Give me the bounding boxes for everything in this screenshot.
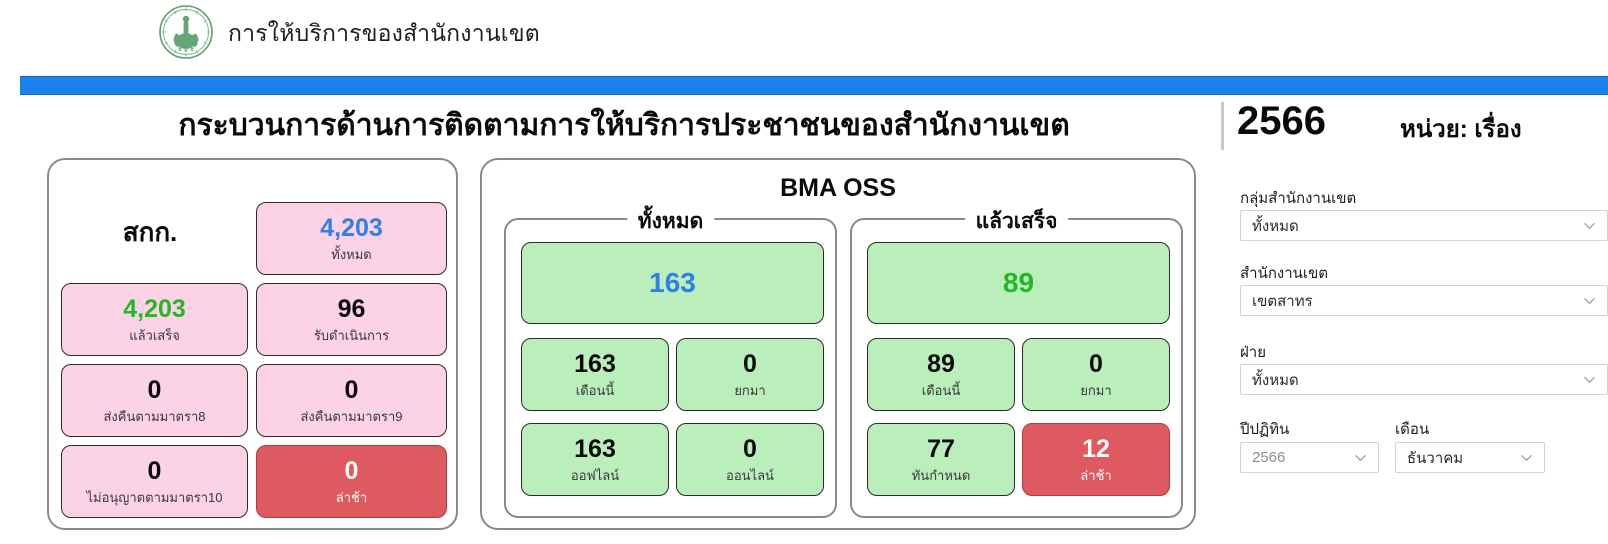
chevron-down-icon — [1582, 293, 1597, 308]
kpi-card-skk-returned-sec9[interactable]: 0 ส่งคืนตามมาตรา9 — [256, 364, 447, 437]
accent-bar — [20, 76, 1608, 95]
kpi-card-skk-returned-sec8[interactable]: 0 ส่งคืนตามมาตรา8 — [61, 364, 248, 437]
kpi-card-oss-all-online[interactable]: 0 ออนไลน์ — [676, 423, 824, 496]
app-header: การให้บริการของสำนักงานเขต — [0, 0, 1608, 72]
kpi-label: เดือนนี้ — [922, 384, 960, 397]
filter-label-calendar-year: ปีปฏิทิน — [1240, 417, 1289, 441]
oss-group-all: ทั้งหมด 163 163 เดือนนี้ 0 ยกมา 163 ออฟไ… — [504, 218, 837, 518]
filter-select-month[interactable]: ธันวาคม — [1395, 442, 1545, 473]
kpi-card-oss-completed-on-time[interactable]: 77 ทันกำหนด — [867, 423, 1015, 496]
filter-select-district-office[interactable]: เขตสาทร — [1240, 285, 1608, 316]
kpi-card-oss-completed-total[interactable]: 89 — [867, 242, 1170, 324]
kpi-card-oss-all-offline[interactable]: 163 ออฟไลน์ — [521, 423, 669, 496]
kpi-value: 0 — [345, 378, 359, 403]
skk-panel: สกก. 4,203 ทั้งหมด 4,203 แล้วเสร็จ 96 รั… — [47, 158, 458, 530]
kpi-label: ล่าช้า — [336, 491, 367, 504]
bma-oss-heading: BMA OSS — [482, 174, 1194, 203]
chevron-down-icon — [1519, 450, 1534, 465]
kpi-value: 0 — [148, 459, 162, 484]
kpi-label: แล้วเสร็จ — [129, 329, 180, 342]
bma-oss-panel: BMA OSS ทั้งหมด 163 163 เดือนนี้ 0 ยกมา … — [480, 158, 1196, 530]
filter-select-calendar-year[interactable]: 2566 — [1240, 442, 1379, 473]
title-row: กระบวนการด้านการติดตามการให้บริการประชาช… — [0, 100, 1608, 155]
chevron-down-icon — [1582, 218, 1597, 233]
filter-value: ทั้งหมด — [1252, 368, 1582, 392]
kpi-value: 77 — [927, 437, 955, 462]
kpi-value: 163 — [574, 352, 616, 377]
filter-select-department[interactable]: ทั้งหมด — [1240, 364, 1608, 395]
kpi-value: 0 — [743, 352, 757, 377]
kpi-card-oss-all-carried-over[interactable]: 0 ยกมา — [676, 338, 824, 411]
filter-value: ธันวาคม — [1407, 446, 1519, 470]
filter-label-district-group: กลุ่มสำนักงานเขต — [1240, 186, 1356, 210]
kpi-value: 89 — [1003, 267, 1034, 299]
kpi-card-oss-completed-late[interactable]: 12 ล่าช้า — [1022, 423, 1170, 496]
dashboard-page: การให้บริการของสำนักงานเขต กระบวนการด้าน… — [0, 0, 1608, 544]
kpi-label: ไม่อนุญาตตามมาตรา10 — [87, 491, 223, 504]
kpi-label: ออฟไลน์ — [571, 469, 619, 482]
kpi-card-skk-done[interactable]: 4,203 แล้วเสร็จ — [61, 283, 248, 356]
kpi-value: 12 — [1082, 437, 1110, 462]
kpi-label: ยกมา — [734, 384, 765, 397]
title-divider — [1221, 102, 1224, 150]
oss-group-all-legend: ทั้งหมด — [627, 205, 714, 238]
kpi-value: 0 — [743, 437, 757, 462]
kpi-label: เดือนนี้ — [576, 384, 614, 397]
oss-group-completed-legend: แล้วเสร็จ — [965, 205, 1069, 238]
kpi-value: 163 — [574, 437, 616, 462]
chevron-down-icon — [1582, 372, 1597, 387]
skk-heading: สกก. — [59, 212, 241, 253]
filter-label-month: เดือน — [1395, 417, 1429, 441]
kpi-label: ทันกำหนด — [912, 469, 971, 482]
kpi-value: 4,203 — [320, 216, 383, 241]
kpi-value: 163 — [649, 267, 696, 299]
kpi-label: ส่งคืนตามมาตรา9 — [300, 410, 402, 423]
filter-value: ทั้งหมด — [1252, 214, 1582, 238]
kpi-label: ล่าช้า — [1080, 469, 1111, 482]
kpi-card-oss-all-total[interactable]: 163 — [521, 242, 824, 324]
filter-label-district-office: สำนักงานเขต — [1240, 261, 1328, 285]
filters-sidebar: กลุ่มสำนักงานเขต ทั้งหมด สำนักงานเขต เขต… — [1232, 186, 1608, 516]
filter-select-district-group[interactable]: ทั้งหมด — [1240, 210, 1608, 241]
filter-value: 2566 — [1252, 449, 1353, 466]
kpi-label: รับดำเนินการ — [314, 329, 389, 342]
kpi-card-oss-completed-this-month[interactable]: 89 เดือนนี้ — [867, 338, 1015, 411]
kpi-card-oss-all-this-month[interactable]: 163 เดือนนี้ — [521, 338, 669, 411]
chevron-down-icon — [1353, 450, 1368, 465]
kpi-label: ส่งคืนตามมาตรา8 — [103, 410, 205, 423]
kpi-value: 96 — [338, 297, 366, 322]
kpi-value: 0 — [345, 459, 359, 484]
kpi-value: 0 — [1089, 352, 1103, 377]
kpi-value: 0 — [148, 378, 162, 403]
unit-label: หน่วย: เรื่อง — [1400, 109, 1522, 148]
kpi-card-skk-accepted[interactable]: 96 รับดำเนินการ — [256, 283, 447, 356]
bma-seal-icon — [157, 3, 215, 61]
kpi-card-skk-late[interactable]: 0 ล่าช้า — [256, 445, 447, 518]
page-title: กระบวนการด้านการติดตามการให้บริการประชาช… — [34, 102, 1214, 149]
kpi-value: 4,203 — [123, 297, 186, 322]
filter-value: เขตสาทร — [1252, 289, 1582, 313]
kpi-label: ออนไลน์ — [726, 469, 774, 482]
kpi-value: 89 — [927, 352, 955, 377]
kpi-card-skk-denied-sec10[interactable]: 0 ไม่อนุญาตตามมาตรา10 — [61, 445, 248, 518]
year-display: 2566 — [1237, 99, 1326, 144]
filter-label-department: ฝ่าย — [1240, 340, 1266, 364]
oss-group-completed: แล้วเสร็จ 89 89 เดือนนี้ 0 ยกมา 77 ทันกำ… — [850, 218, 1183, 518]
brand-title: การให้บริการของสำนักงานเขต — [228, 16, 540, 52]
kpi-card-skk-total[interactable]: 4,203 ทั้งหมด — [256, 202, 447, 275]
kpi-card-oss-completed-carried-over[interactable]: 0 ยกมา — [1022, 338, 1170, 411]
kpi-label: ทั้งหมด — [331, 248, 372, 261]
kpi-label: ยกมา — [1080, 384, 1111, 397]
